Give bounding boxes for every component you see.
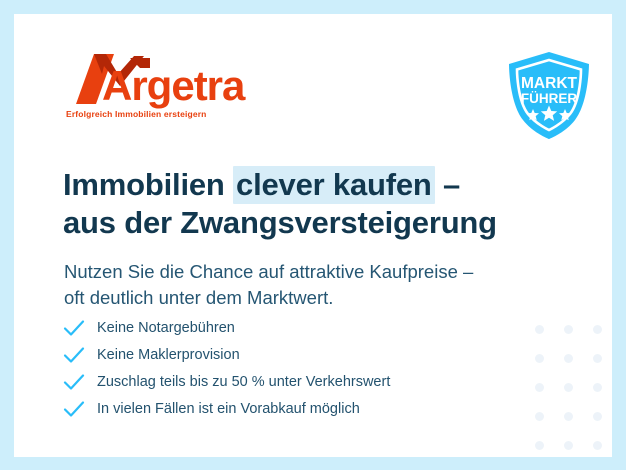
headline-part1: Immobilien [63,167,233,202]
decorative-dot [564,325,573,334]
list-item: Keine Notargebühren [63,314,533,341]
decorative-dot [593,441,602,450]
decorative-dot [535,325,544,334]
subheading-line1: Nutzen Sie die Chance auf attraktive Kau… [64,259,564,285]
list-item-label: Keine Notargebühren [97,320,235,336]
headline-line2: aus der Zwangsversteigerung [63,205,583,240]
benefits-list: Keine NotargebührenKeine Maklerprovision… [63,314,533,422]
headline-part2: – [435,167,460,202]
decorative-dot [535,383,544,392]
decorative-dot [593,412,602,421]
list-item: In vielen Fällen ist ein Vorabkauf mögli… [63,395,533,422]
check-icon [63,373,85,391]
subheading-line2: oft deutlich unter dem Marktwert. [64,285,564,311]
list-item-label: In vielen Fällen ist ein Vorabkauf mögli… [97,401,360,417]
page-title: Immobilien clever kaufen – aus der Zwang… [63,167,583,240]
list-item-label: Keine Maklerprovision [97,347,240,363]
promo-banner: Argetra Erfolgreich Immobilien ersteiger… [0,0,626,470]
argetra-logo: Argetra Erfolgreich Immobilien ersteiger… [58,52,248,130]
list-item: Keine Maklerprovision [63,341,533,368]
decorative-dot [564,441,573,450]
decorative-dot [593,383,602,392]
badge-line2: FÜHRER [521,91,577,106]
list-item: Zuschlag teils bis zu 50 % unter Verkehr… [63,368,533,395]
decorative-dot [564,412,573,421]
check-icon [63,319,85,337]
decorative-dot [535,354,544,363]
headline-highlight: clever kaufen [233,166,435,204]
decorative-dot [564,383,573,392]
market-leader-badge: MARKT FÜHRER [501,47,597,143]
decorative-dot [593,325,602,334]
promo-card: Argetra Erfolgreich Immobilien ersteiger… [14,14,612,457]
decorative-dot [593,354,602,363]
check-icon [63,346,85,364]
check-icon [63,400,85,418]
svg-text:Argetra: Argetra [102,62,246,109]
argetra-logo-mark: Argetra [58,52,248,110]
decorative-dot [535,412,544,421]
decorative-dot [564,354,573,363]
subheading: Nutzen Sie die Chance auf attraktive Kau… [64,259,564,311]
list-item-label: Zuschlag teils bis zu 50 % unter Verkehr… [97,374,390,390]
decorative-dot [535,441,544,450]
badge-line1: MARKT [521,75,577,92]
logo-tagline: Erfolgreich Immobilien ersteigern [66,109,207,119]
